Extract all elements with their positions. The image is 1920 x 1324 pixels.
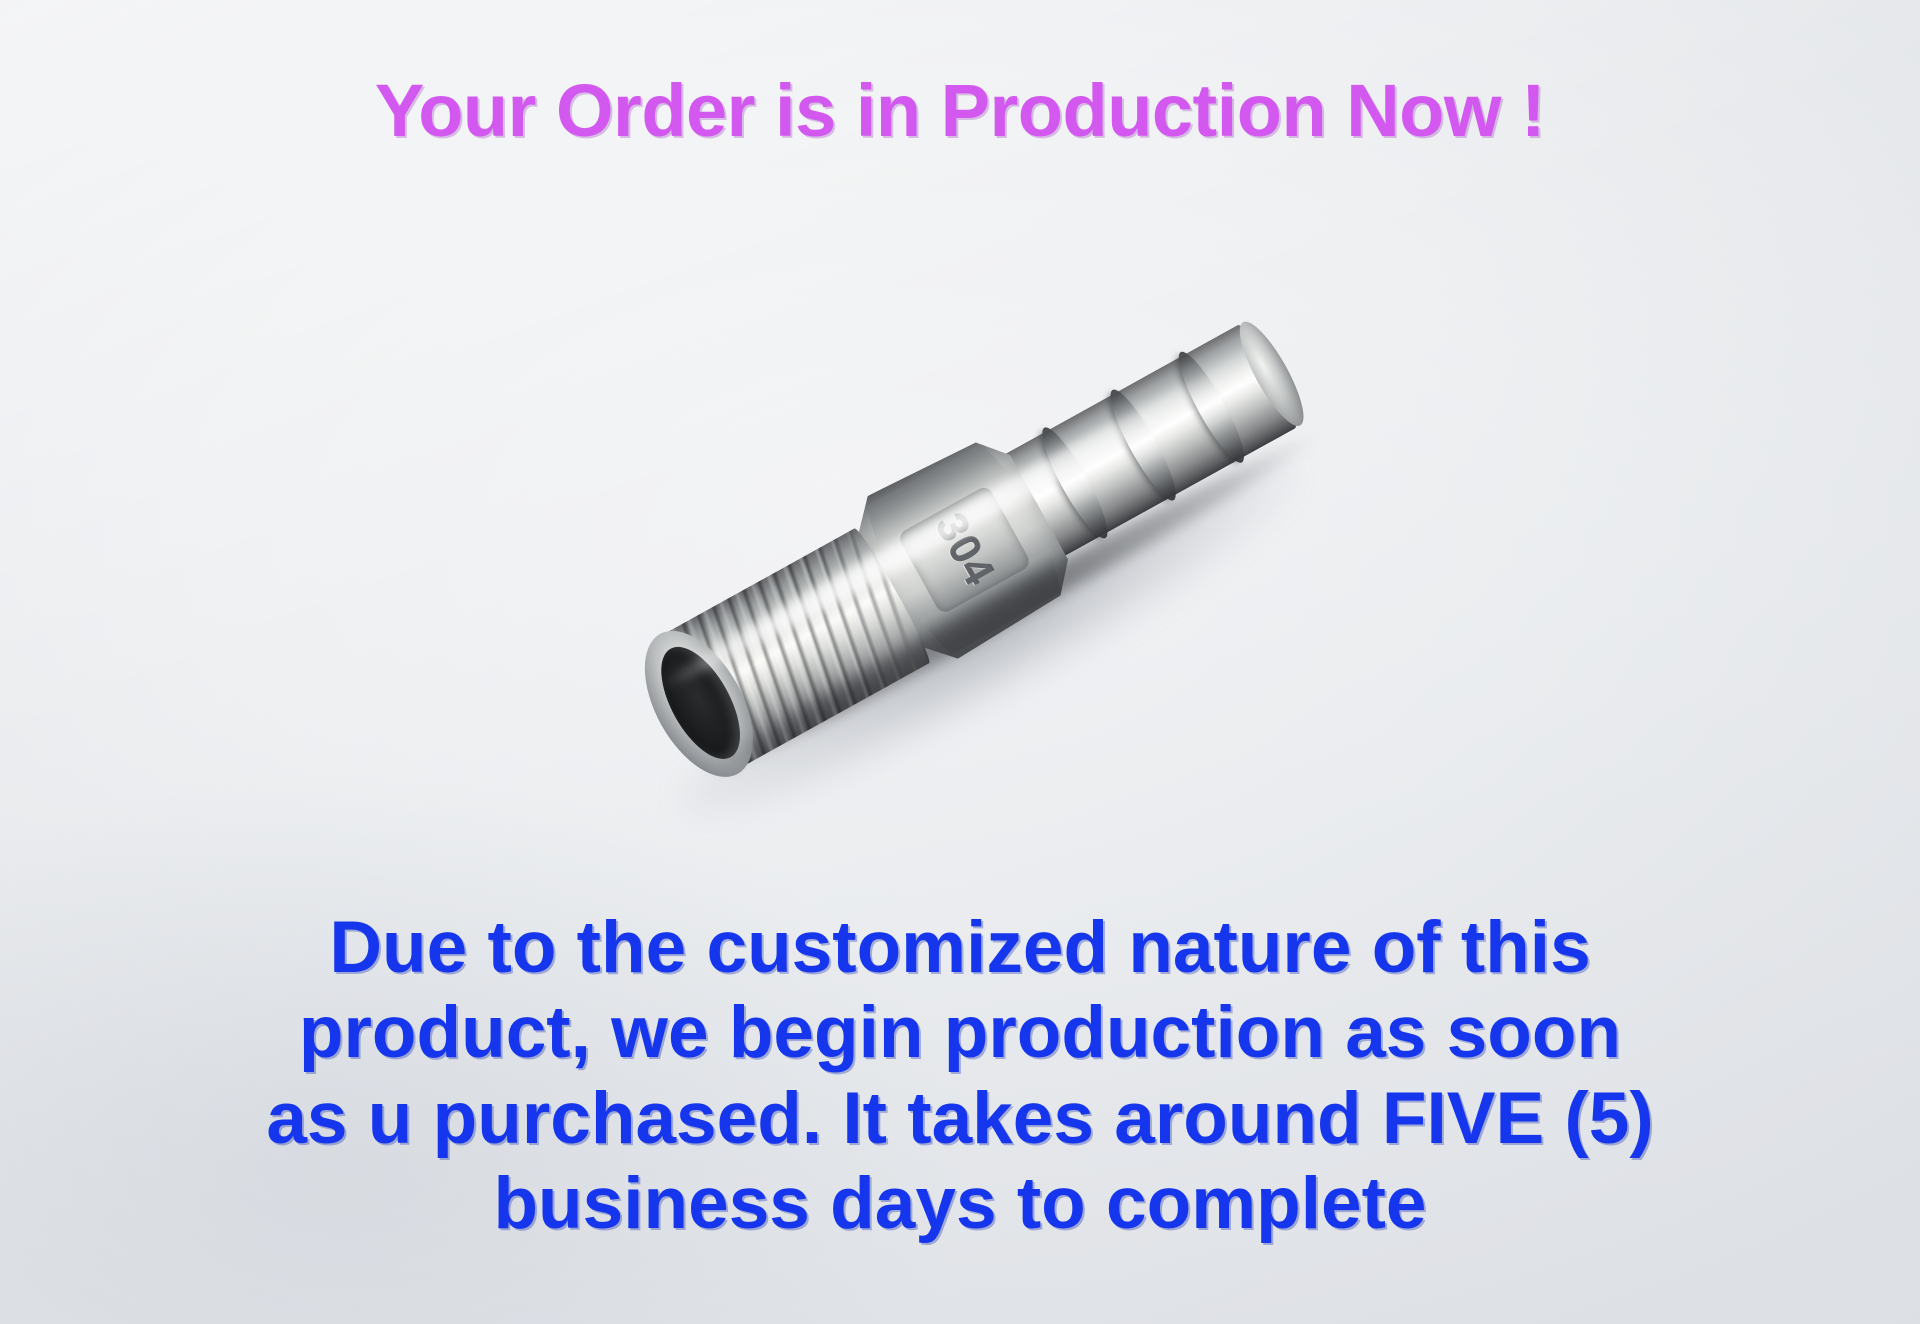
notice-line: Due to the customized nature of this — [0, 905, 1920, 990]
production-notice-poster: 304 Your Order is in Production Now ! Du… — [0, 0, 1920, 1324]
product-photo-hose-barb-fitting: 304 — [503, 164, 1416, 937]
notice-line: product, we begin production as soon — [0, 990, 1920, 1075]
notice-line: business days to complete — [0, 1161, 1920, 1246]
notice-line: as u purchased. It takes around FIVE (5) — [0, 1076, 1920, 1161]
notice-body-text: Due to the customized nature of this pro… — [0, 905, 1920, 1247]
page-title: Your Order is in Production Now ! — [0, 72, 1920, 150]
